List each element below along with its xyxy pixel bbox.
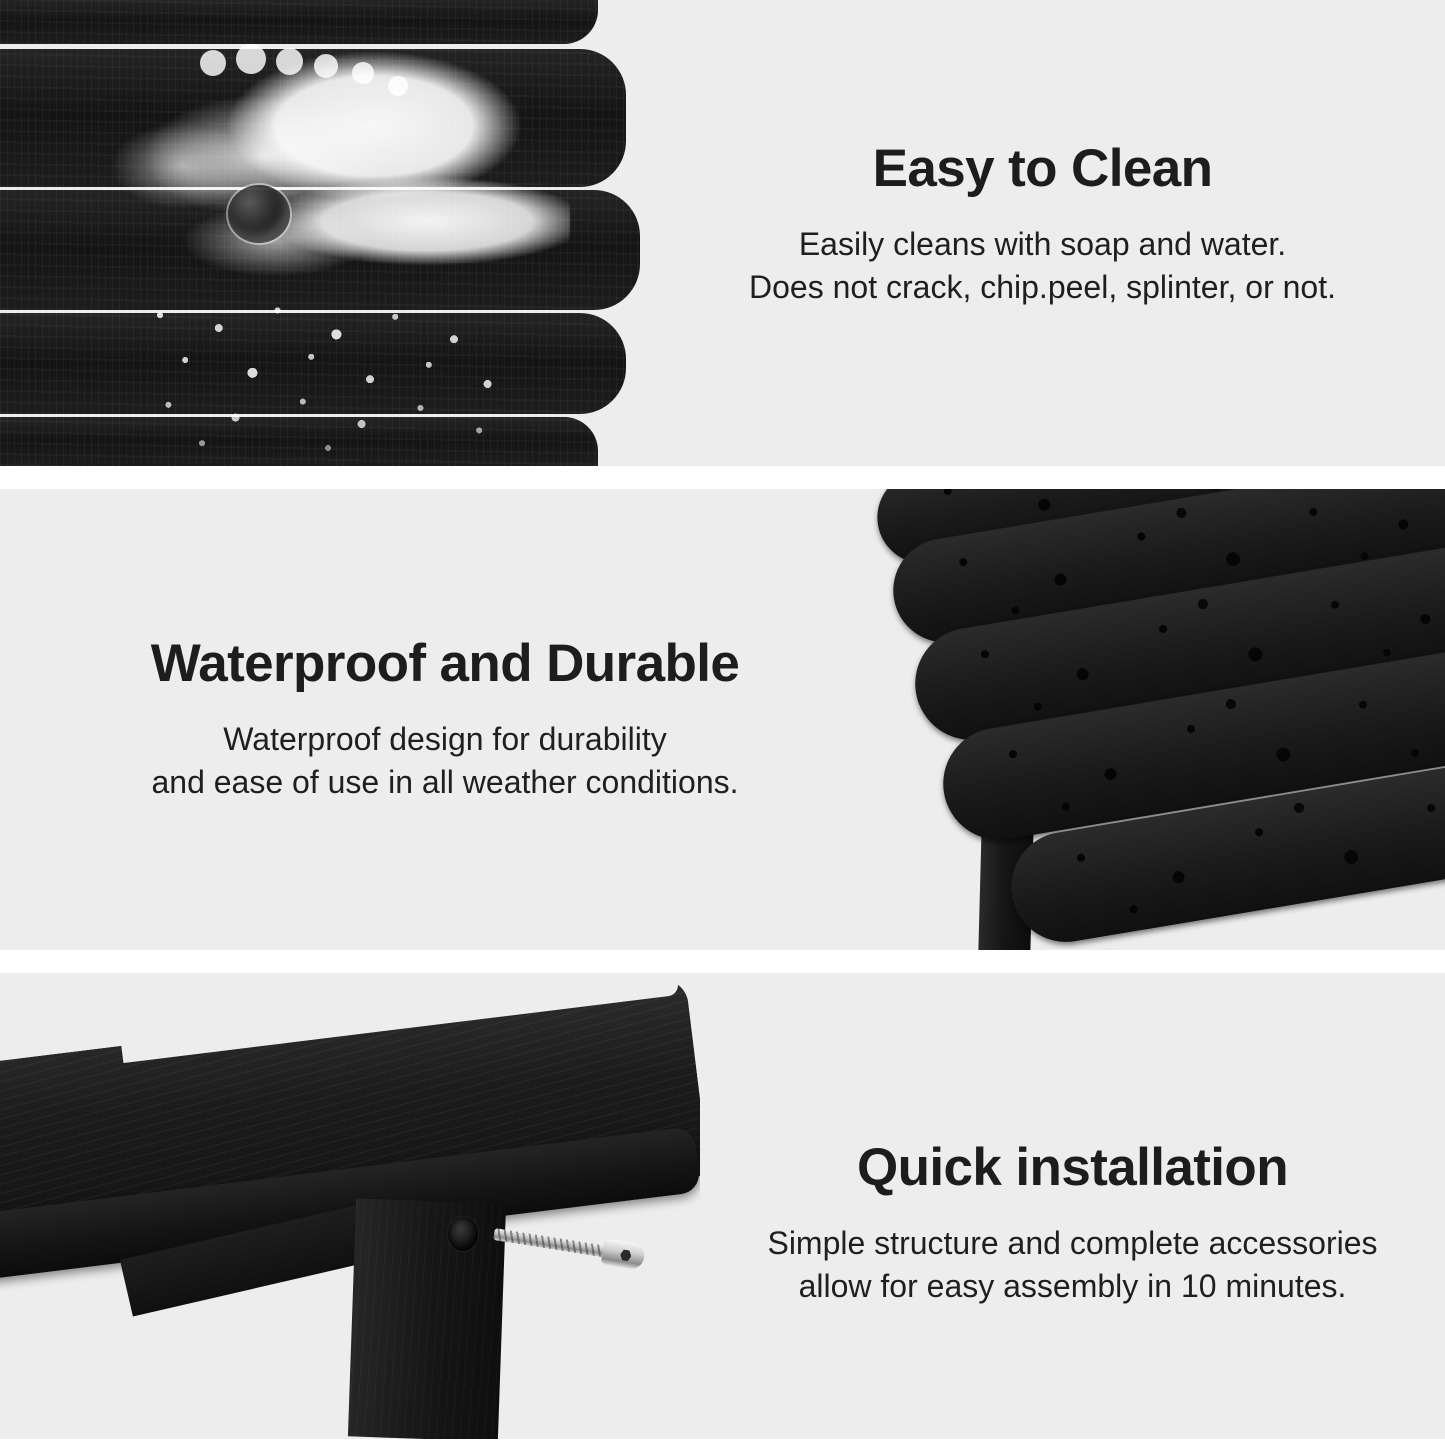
product-feature-infographic: Easy to Clean Easily cleans with soap an… — [0, 0, 1445, 1444]
black-slats-with-soap-foam-photo — [0, 0, 640, 466]
screw-threaded-shaft — [493, 1228, 611, 1258]
foam-bubble — [236, 44, 266, 74]
body-line: Waterproof design for durability — [151, 718, 738, 761]
slat-3 — [0, 190, 640, 310]
feature-text-waterproof-and-durable: Waterproof and Durable Waterproof design… — [0, 489, 860, 950]
foam-bubble — [388, 76, 408, 96]
panel-heading: Quick installation — [857, 1139, 1288, 1196]
foam-bubble — [314, 54, 338, 78]
water-droplet-field — [118, 296, 538, 456]
body-line: and ease of use in all weather condition… — [151, 761, 738, 804]
foam-bubble — [200, 50, 226, 76]
body-line: allow for easy assembly in 10 minutes. — [767, 1265, 1377, 1308]
panel-heading: Easy to Clean — [873, 140, 1213, 197]
body-line: Easily cleans with soap and water. — [749, 223, 1336, 266]
foam-bubble — [352, 62, 374, 84]
chair-leg — [348, 1198, 506, 1439]
foam-bubble — [276, 48, 303, 75]
feature-panel-waterproof-and-durable: Waterproof and Durable Waterproof design… — [0, 489, 1445, 950]
chair-seat-leg-and-screw-photo — [0, 973, 700, 1439]
assembly-screw — [492, 1221, 646, 1270]
panel-divider-gap — [0, 466, 1445, 489]
body-line: Does not crack, chip.peel, splinter, or … — [749, 266, 1336, 309]
panel-body-text: Waterproof design for durability and eas… — [151, 718, 738, 804]
feature-panel-easy-to-clean: Easy to Clean Easily cleans with soap an… — [0, 0, 1445, 466]
body-line: Simple structure and complete accessorie… — [767, 1222, 1377, 1265]
slat-2 — [0, 49, 626, 187]
feature-text-quick-installation: Quick installation Simple structure and … — [700, 973, 1445, 1439]
slat-1 — [0, 0, 598, 44]
panel-heading: Waterproof and Durable — [151, 635, 740, 692]
panel-body-text: Easily cleans with soap and water. Does … — [749, 223, 1336, 309]
feature-text-easy-to-clean: Easy to Clean Easily cleans with soap an… — [640, 0, 1445, 466]
panel-divider-gap — [0, 950, 1445, 973]
feature-panel-quick-installation: Quick installation Simple structure and … — [0, 973, 1445, 1439]
panel-body-text: Simple structure and complete accessorie… — [767, 1222, 1377, 1308]
wet-slats-with-water-beads-photo — [860, 489, 1445, 950]
large-water-droplet — [228, 185, 290, 243]
